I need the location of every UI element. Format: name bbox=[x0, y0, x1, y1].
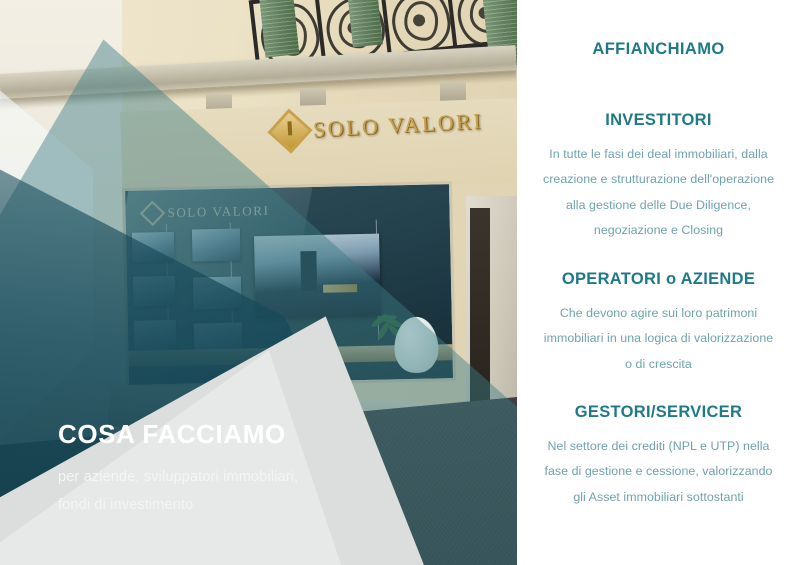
service-block-line: immobiliari in una logica di valorizzazi… bbox=[531, 326, 786, 351]
service-block: OPERATORI o AZIENDEChe devono agire sui … bbox=[517, 270, 800, 377]
service-block-line: creazione e strutturazione dell'operazio… bbox=[531, 167, 786, 192]
poster-window-lights bbox=[323, 284, 357, 293]
service-block-title: INVESTITORI bbox=[517, 111, 800, 130]
shutter-slats bbox=[347, 0, 383, 47]
photo-caption: COSA FACCIAMO per aziende, sviluppatori … bbox=[58, 420, 388, 519]
service-block-line: fase di gestione e cessione, valorizzand… bbox=[531, 459, 786, 484]
service-block-title: OPERATORI o AZIENDE bbox=[517, 270, 800, 289]
property-listing-card bbox=[132, 232, 175, 263]
service-block-body: Nel settore dei crediti (NPL e UTP) nell… bbox=[517, 434, 800, 510]
photo-caption-title: COSA FACCIAMO bbox=[58, 420, 388, 449]
service-block-line: negoziazione e Closing bbox=[531, 218, 786, 243]
service-blocks: INVESTITORIIn tutte le fasi dei deal imm… bbox=[517, 111, 800, 510]
service-block: INVESTITORIIn tutte le fasi dei deal imm… bbox=[517, 111, 800, 244]
white-vase bbox=[394, 316, 439, 373]
property-listing-card bbox=[134, 320, 177, 351]
sign-text: SOLO VALORI bbox=[312, 108, 483, 143]
service-block-body: In tutte le fasi dei deal immobiliari, d… bbox=[517, 142, 800, 244]
poster-building bbox=[300, 251, 317, 291]
feature-property-poster bbox=[254, 234, 381, 319]
service-block-line: Che devono agire sui loro patrimoni bbox=[531, 301, 786, 326]
service-block-body: Che devono agire sui loro patrimoniimmob… bbox=[517, 301, 800, 377]
photo-caption-line-2: fondi di investimento bbox=[58, 491, 388, 519]
section-kicker: AFFIANCHIAMO bbox=[517, 40, 800, 59]
text-column: AFFIANCHIAMO INVESTITORIIn tutte le fasi… bbox=[517, 0, 800, 565]
shutter-slats bbox=[259, 0, 300, 58]
window-sign-text: SOLO VALORI bbox=[167, 203, 269, 221]
service-block-line: gli Asset immobiliari sottostanti bbox=[531, 485, 786, 510]
service-block: GESTORI/SERVICERNel settore dei crediti … bbox=[517, 403, 800, 510]
service-block-title: GESTORI/SERVICER bbox=[517, 403, 800, 422]
service-block-line: Nel settore dei crediti (NPL e UTP) nell… bbox=[531, 434, 786, 459]
property-listing-card bbox=[193, 277, 242, 310]
window-interior-sign: SOLO VALORI bbox=[143, 202, 269, 223]
property-listing-card bbox=[133, 276, 176, 307]
window-shutter bbox=[347, 0, 383, 47]
photo-caption-line-1: per aziende, sviluppatori immobiliari, bbox=[58, 463, 388, 491]
service-block-line: o di crescita bbox=[531, 352, 786, 377]
slide-canvas: SOLO VALORI SOLO VALORI bbox=[0, 0, 800, 565]
storefront-photo: SOLO VALORI SOLO VALORI bbox=[0, 0, 517, 565]
service-block-line: alla gestione delle Due Diligence, bbox=[531, 193, 786, 218]
property-listing-card bbox=[192, 229, 241, 262]
window-shutter bbox=[259, 0, 300, 58]
shop-window: SOLO VALORI bbox=[122, 181, 456, 388]
service-block-line: In tutte le fasi dei deal immobiliari, d… bbox=[531, 142, 786, 167]
